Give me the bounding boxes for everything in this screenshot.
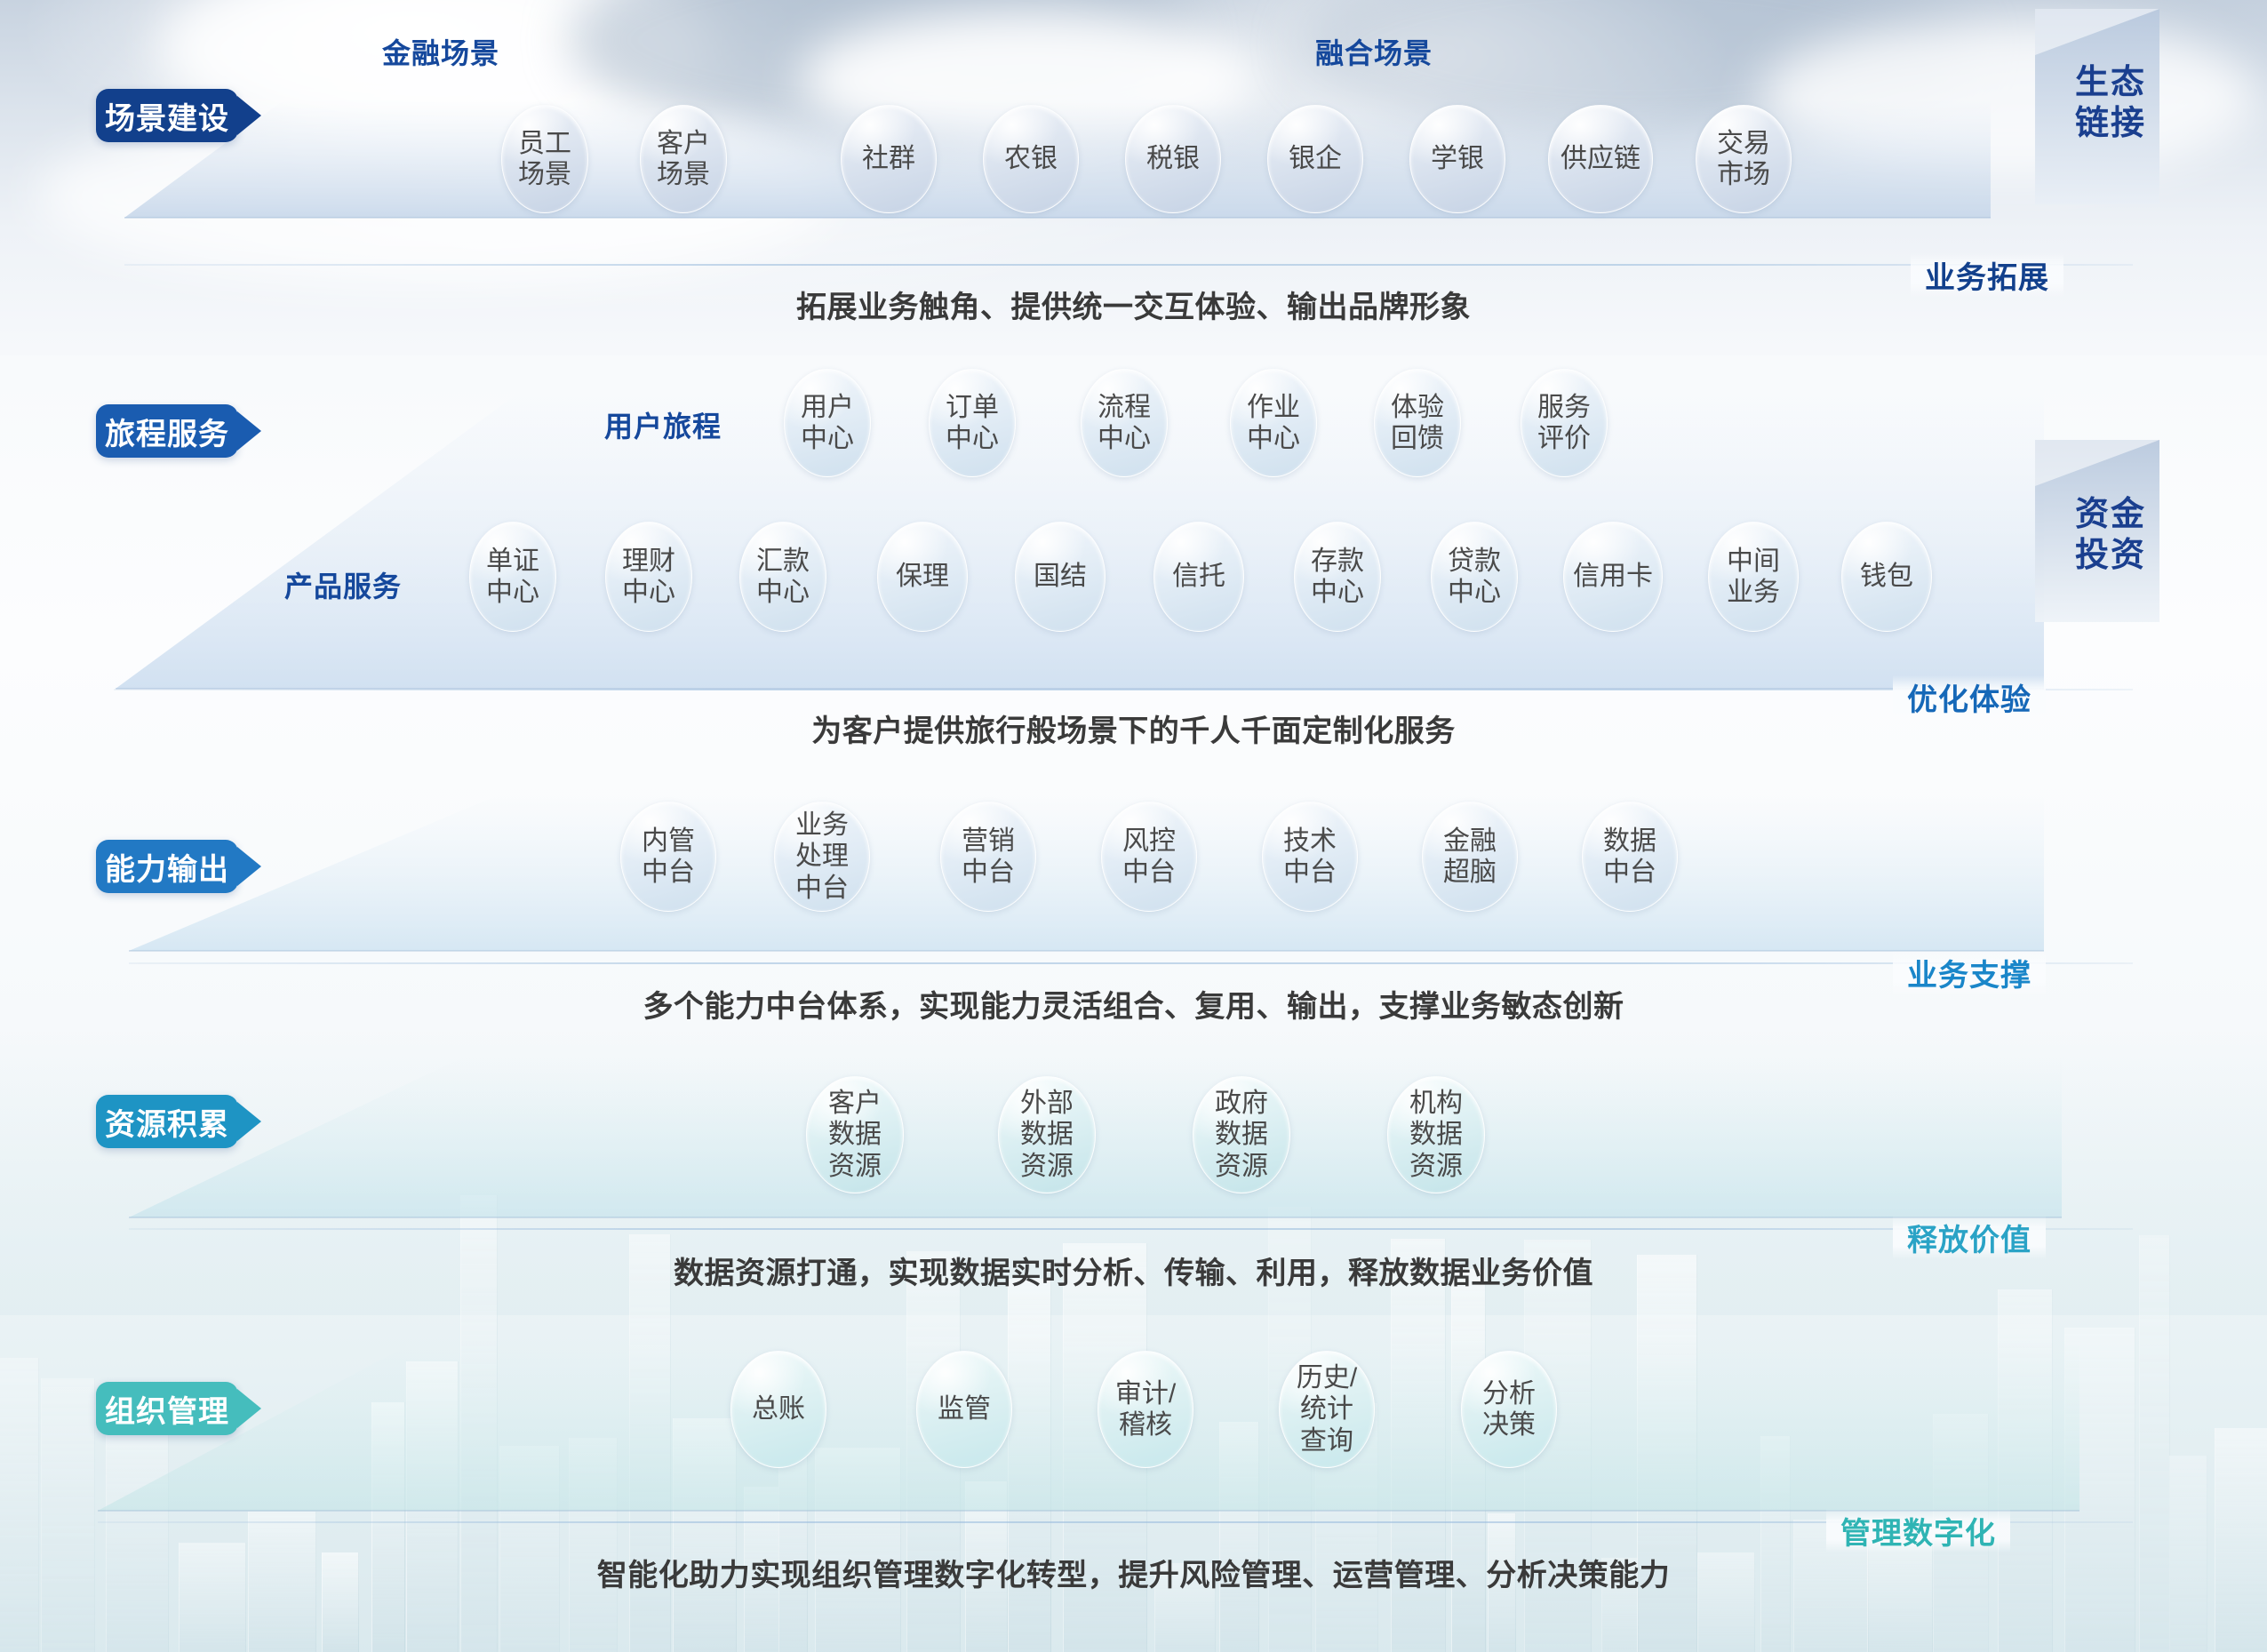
layer-tag-resource-accumulation[interactable]: 资源积累 bbox=[96, 1095, 238, 1148]
node-scene-construction-7[interactable]: 供应链 bbox=[1548, 105, 1653, 213]
layer-tag-label: 资源积累 bbox=[105, 1100, 229, 1144]
node-journey-service-15[interactable]: 中间业务 bbox=[1708, 522, 1799, 632]
node-line: 交易 bbox=[1717, 128, 1770, 159]
side-banner-line1: 资金 bbox=[2075, 494, 2146, 535]
node-resource-accumulation-1[interactable]: 外部数据资源 bbox=[998, 1076, 1096, 1193]
layer-tag-label: 组织管理 bbox=[105, 1387, 229, 1431]
node-capability-output-6[interactable]: 数据中台 bbox=[1582, 802, 1678, 912]
side-banner-line2: 投资 bbox=[2075, 535, 2146, 576]
node-line: 中心 bbox=[622, 577, 675, 608]
layer-tag-capability-output[interactable]: 能力输出 bbox=[96, 840, 238, 893]
node-line: 汇款 bbox=[756, 546, 810, 577]
layer-caption-organization-management: 智能化助力实现组织管理数字化转型，提升风险管理、运营管理、分析决策能力 bbox=[0, 1551, 2267, 1594]
node-organization-management-0[interactable]: 总账 bbox=[730, 1351, 826, 1468]
node-journey-service-2[interactable]: 流程中心 bbox=[1081, 369, 1168, 477]
node-line: 审计/ bbox=[1115, 1378, 1176, 1409]
group-label-scene-construction-1: 融合场景 bbox=[1315, 31, 1433, 72]
node-line: 金融 bbox=[1443, 826, 1497, 857]
node-journey-service-10[interactable]: 国结 bbox=[1015, 522, 1106, 632]
group-label-scene-construction-0: 金融场景 bbox=[382, 31, 499, 72]
node-line: 业务 bbox=[795, 810, 849, 841]
node-line: 税银 bbox=[1146, 143, 1200, 174]
node-line: 内管 bbox=[642, 826, 695, 857]
node-line: 稽核 bbox=[1119, 1409, 1172, 1441]
side-banner-funding: 资金投资 bbox=[2062, 494, 2159, 577]
node-line: 历史/ bbox=[1297, 1362, 1357, 1393]
node-line: 场景 bbox=[657, 159, 710, 190]
layer-caption-journey-service: 为客户提供旅行般场景下的千人千面定制化服务 bbox=[0, 706, 2267, 750]
node-organization-management-4[interactable]: 分析决策 bbox=[1461, 1351, 1557, 1468]
node-scene-construction-3[interactable]: 农银 bbox=[983, 105, 1079, 213]
node-journey-service-16[interactable]: 钱包 bbox=[1841, 522, 1932, 632]
node-capability-output-3[interactable]: 风控中台 bbox=[1101, 802, 1197, 912]
node-line: 单证 bbox=[486, 546, 539, 577]
node-scene-construction-2[interactable]: 社群 bbox=[841, 105, 937, 213]
node-line: 场景 bbox=[518, 159, 571, 190]
node-line: 数据 bbox=[1409, 1119, 1463, 1150]
node-line: 信托 bbox=[1172, 561, 1225, 592]
node-line: 业务 bbox=[1727, 577, 1780, 608]
node-line: 供应链 bbox=[1561, 143, 1640, 174]
node-scene-construction-0[interactable]: 员工场景 bbox=[501, 105, 588, 213]
node-journey-service-1[interactable]: 订单中心 bbox=[929, 369, 1016, 477]
node-line: 中心 bbox=[486, 577, 539, 608]
node-line: 中心 bbox=[1448, 577, 1501, 608]
node-line: 贷款 bbox=[1448, 546, 1501, 577]
node-line: 监管 bbox=[938, 1393, 991, 1425]
node-line: 保理 bbox=[896, 561, 949, 592]
side-banner-ecosystem: 生态链接 bbox=[2062, 62, 2159, 145]
node-line: 中心 bbox=[1311, 577, 1364, 608]
node-line: 理财 bbox=[622, 546, 675, 577]
node-line: 分析 bbox=[1482, 1378, 1536, 1409]
node-line: 钱包 bbox=[1860, 561, 1913, 592]
layer-tag-journey-service[interactable]: 旅程服务 bbox=[96, 404, 238, 458]
node-line: 资源 bbox=[1020, 1151, 1074, 1182]
node-line: 中心 bbox=[1098, 423, 1151, 454]
node-journey-service-0[interactable]: 用户中心 bbox=[784, 369, 871, 477]
node-line: 体验 bbox=[1391, 392, 1444, 423]
node-line: 政府 bbox=[1215, 1088, 1268, 1119]
node-line: 数据 bbox=[1603, 826, 1656, 857]
layer-tag-organization-management[interactable]: 组织管理 bbox=[96, 1382, 238, 1435]
node-line: 社群 bbox=[862, 143, 915, 174]
node-line: 订单 bbox=[946, 392, 999, 423]
layer-right-label-organization-management: 管理数字化 bbox=[1826, 1509, 2010, 1552]
node-journey-service-4[interactable]: 体验回馈 bbox=[1374, 369, 1461, 477]
node-line: 查询 bbox=[1300, 1425, 1353, 1456]
node-journey-service-7[interactable]: 理财中心 bbox=[605, 522, 692, 632]
node-line: 数据 bbox=[1020, 1119, 1074, 1150]
node-scene-construction-6[interactable]: 学银 bbox=[1409, 105, 1505, 213]
node-scene-construction-1[interactable]: 客户场景 bbox=[640, 105, 727, 213]
node-line: 中台 bbox=[642, 857, 695, 888]
node-line: 外部 bbox=[1020, 1088, 1074, 1119]
layer-tag-label: 旅程服务 bbox=[105, 410, 229, 453]
node-line: 中心 bbox=[801, 423, 854, 454]
node-journey-service-8[interactable]: 汇款中心 bbox=[739, 522, 826, 632]
node-journey-service-3[interactable]: 作业中心 bbox=[1230, 369, 1317, 477]
node-line: 中台 bbox=[1283, 857, 1337, 888]
side-banner-line1: 生态 bbox=[2075, 62, 2146, 103]
node-capability-output-4[interactable]: 技术中台 bbox=[1262, 802, 1358, 912]
layer-caption-scene-construction: 拓展业务触角、提供统一交互体验、输出品牌形象 bbox=[0, 283, 2267, 326]
node-line: 用户 bbox=[801, 392, 854, 423]
layer-divider-scene-construction bbox=[124, 264, 2133, 266]
node-line: 学银 bbox=[1431, 143, 1484, 174]
node-line: 客户 bbox=[828, 1088, 882, 1119]
node-line: 机构 bbox=[1409, 1088, 1463, 1119]
node-line: 国结 bbox=[1034, 561, 1087, 592]
node-line: 客户 bbox=[657, 128, 710, 159]
node-line: 风控 bbox=[1122, 826, 1176, 857]
node-line: 资源 bbox=[1215, 1151, 1268, 1182]
group-label-journey-service-0: 产品服务 bbox=[284, 564, 402, 605]
group-label-journey-service-0: 用户旅程 bbox=[604, 404, 722, 445]
node-line: 市场 bbox=[1717, 159, 1770, 190]
node-line: 决策 bbox=[1482, 1409, 1536, 1441]
node-line: 中台 bbox=[962, 857, 1015, 888]
node-line: 流程 bbox=[1098, 392, 1151, 423]
node-line: 银企 bbox=[1289, 143, 1342, 174]
layer-divider-resource-accumulation bbox=[129, 1228, 2133, 1230]
node-capability-output-0[interactable]: 内管中台 bbox=[620, 802, 716, 912]
node-line: 数据 bbox=[828, 1119, 882, 1150]
node-scene-construction-4[interactable]: 税银 bbox=[1125, 105, 1221, 213]
layer-caption-resource-accumulation: 数据资源打通，实现数据实时分析、传输、利用，释放数据业务价值 bbox=[0, 1249, 2267, 1292]
node-line: 评价 bbox=[1537, 423, 1591, 454]
node-scene-construction-5[interactable]: 银企 bbox=[1267, 105, 1363, 213]
node-resource-accumulation-0[interactable]: 客户数据资源 bbox=[806, 1076, 904, 1193]
node-journey-service-14[interactable]: 信用卡 bbox=[1563, 522, 1663, 632]
node-resource-accumulation-3[interactable]: 机构数据资源 bbox=[1387, 1076, 1485, 1193]
layer-tag-label: 能力输出 bbox=[105, 845, 229, 889]
layer-divider-journey-service bbox=[114, 689, 2133, 690]
node-journey-service-9[interactable]: 保理 bbox=[877, 522, 968, 632]
node-line: 中台 bbox=[1603, 857, 1656, 888]
node-line: 技术 bbox=[1283, 826, 1337, 857]
node-line: 中台 bbox=[1122, 857, 1176, 888]
node-capability-output-5[interactable]: 金融超脑 bbox=[1422, 802, 1518, 912]
node-line: 中心 bbox=[946, 423, 999, 454]
node-journey-service-13[interactable]: 贷款中心 bbox=[1431, 522, 1518, 632]
node-line: 服务 bbox=[1537, 392, 1591, 423]
layer-divider-capability-output bbox=[129, 962, 2133, 964]
node-line: 处理 bbox=[795, 841, 849, 872]
node-line: 资源 bbox=[1409, 1151, 1463, 1182]
layer-tag-scene-construction[interactable]: 场景建设 bbox=[96, 89, 238, 142]
node-line: 农银 bbox=[1004, 143, 1058, 174]
node-organization-management-2[interactable]: 审计/稽核 bbox=[1098, 1351, 1193, 1468]
node-capability-output-1[interactable]: 业务处理中台 bbox=[774, 802, 870, 912]
side-banner-line2: 链接 bbox=[2075, 103, 2146, 144]
node-scene-construction-8[interactable]: 交易市场 bbox=[1696, 105, 1792, 213]
node-line: 员工 bbox=[518, 128, 571, 159]
layer-caption-capability-output: 多个能力中台体系，实现能力灵活组合、复用、输出，支撑业务敏态创新 bbox=[0, 982, 2267, 1026]
node-journey-service-6[interactable]: 单证中心 bbox=[469, 522, 556, 632]
node-journey-service-12[interactable]: 存款中心 bbox=[1294, 522, 1381, 632]
node-line: 存款 bbox=[1311, 546, 1364, 577]
node-line: 总账 bbox=[752, 1393, 805, 1425]
node-resource-accumulation-2[interactable]: 政府数据资源 bbox=[1193, 1076, 1290, 1193]
node-line: 中台 bbox=[795, 873, 849, 904]
node-line: 数据 bbox=[1215, 1119, 1268, 1150]
node-capability-output-2[interactable]: 营销中台 bbox=[940, 802, 1036, 912]
node-line: 信用卡 bbox=[1573, 561, 1653, 592]
node-line: 中心 bbox=[756, 577, 810, 608]
node-line: 中间 bbox=[1727, 546, 1780, 577]
node-organization-management-1[interactable]: 监管 bbox=[916, 1351, 1012, 1468]
node-organization-management-3[interactable]: 历史/统计查询 bbox=[1279, 1351, 1375, 1468]
node-line: 超脑 bbox=[1443, 857, 1497, 888]
node-line: 中心 bbox=[1247, 423, 1300, 454]
node-line: 统计 bbox=[1300, 1393, 1353, 1425]
node-line: 回馈 bbox=[1391, 423, 1444, 454]
node-line: 资源 bbox=[828, 1151, 882, 1182]
node-journey-service-11[interactable]: 信托 bbox=[1153, 522, 1244, 632]
node-line: 营销 bbox=[962, 826, 1015, 857]
node-line: 作业 bbox=[1247, 392, 1300, 423]
node-journey-service-5[interactable]: 服务评价 bbox=[1521, 369, 1608, 477]
layer-tag-label: 场景建设 bbox=[105, 94, 229, 138]
